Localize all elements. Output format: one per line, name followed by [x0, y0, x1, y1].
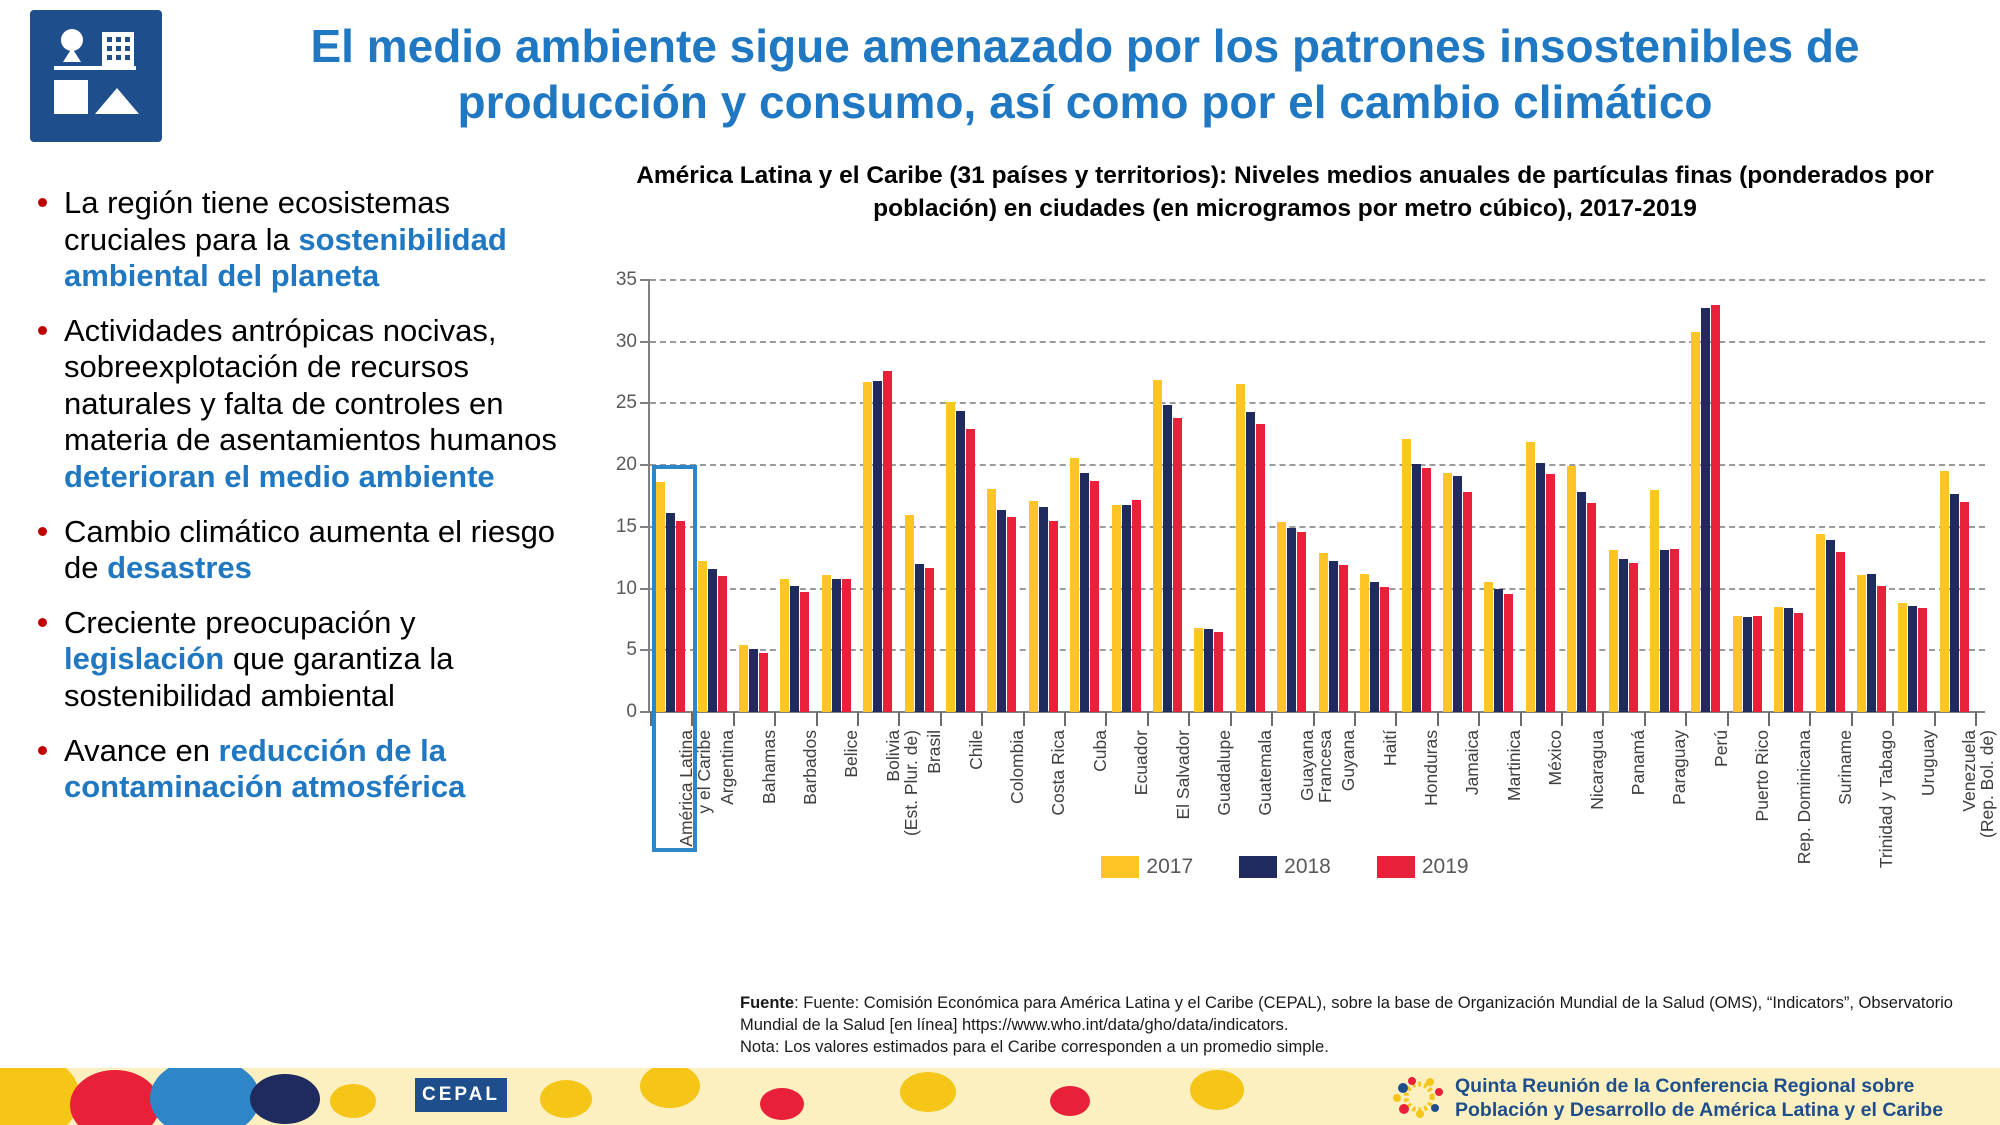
bar-2019 — [966, 429, 975, 712]
bar-2019 — [1587, 503, 1596, 712]
bar-2019 — [1256, 424, 1265, 712]
bar-2019 — [883, 371, 892, 712]
y-tick-mark — [640, 464, 650, 466]
bar-2017 — [1070, 458, 1079, 712]
bar-2019 — [1297, 532, 1306, 712]
bar-2017 — [863, 382, 872, 712]
bullet-text-highlight: deterioran el medio ambiente — [64, 459, 495, 494]
x-tick-mark — [691, 712, 693, 726]
bar-group — [1768, 280, 1809, 712]
x-tick-mark — [1975, 712, 1977, 726]
x-tick-mark — [1147, 712, 1149, 726]
bar-2017 — [1360, 574, 1369, 712]
y-tick-label: 30 — [585, 331, 637, 353]
footer-conference-name: Quinta Reunión de la Conferencia Regiona… — [1455, 1074, 1943, 1123]
source-line-2: Nota: Los valores estimados para el Cari… — [740, 1037, 1990, 1059]
bar-2018 — [1867, 574, 1876, 712]
bar-group — [1934, 280, 1975, 712]
decor-blob — [70, 1070, 160, 1125]
bar-2017 — [822, 575, 831, 712]
bar-2018 — [1577, 492, 1586, 712]
legend-item-2018[interactable]: 2018 — [1239, 855, 1331, 879]
y-tick-label: 5 — [585, 639, 637, 661]
bar-2019 — [1711, 305, 1720, 712]
bar-2019 — [925, 568, 934, 712]
bar-group — [650, 280, 691, 712]
y-tick-label: 15 — [585, 516, 637, 538]
bar-group — [1727, 280, 1768, 712]
bar-group — [1147, 280, 1188, 712]
bar-2019 — [1007, 517, 1016, 712]
x-tick-mark — [1230, 712, 1232, 726]
decor-blob — [250, 1074, 320, 1124]
bar-group — [816, 280, 857, 712]
bar-2018 — [1163, 405, 1172, 712]
x-tick-mark — [1271, 712, 1273, 726]
decor-blob — [1050, 1086, 1090, 1116]
x-tick-mark — [1354, 712, 1356, 726]
x-tick-mark — [1851, 712, 1853, 726]
x-tick-mark — [1520, 712, 1522, 726]
bar-2017 — [1940, 471, 1949, 712]
bar-2017 — [1277, 522, 1286, 712]
chart-panel: América Latina y el Caribe (31 países y … — [585, 155, 1985, 985]
x-tick-mark — [774, 712, 776, 726]
bar-group — [1395, 280, 1436, 712]
footer-line-2: Población y Desarrollo de América Latina… — [1455, 1098, 1943, 1122]
bar-group — [1271, 280, 1312, 712]
legend-swatch-2017 — [1101, 856, 1139, 878]
chart-legend: 201720182019 — [585, 855, 1985, 879]
y-tick-mark — [640, 279, 650, 281]
bar-group — [691, 280, 732, 712]
x-tick-mark — [1644, 712, 1646, 726]
bar-2019 — [1670, 549, 1679, 712]
cepal-logo: CEPAL — [415, 1078, 507, 1112]
bar-2018 — [666, 513, 675, 712]
bullet-item: La región tiene ecosistemas cruciales pa… — [24, 185, 569, 295]
bar-2017 — [1567, 466, 1576, 712]
x-tick-mark — [1023, 712, 1025, 726]
bar-2019 — [1753, 616, 1762, 712]
bar-2017 — [739, 645, 748, 712]
bullet-item: Avance en reducción de la contaminación … — [24, 733, 569, 806]
bar-2017 — [698, 561, 707, 712]
bar-2017 — [946, 402, 955, 712]
bar-2017 — [1609, 550, 1618, 712]
bar-2018 — [873, 381, 882, 712]
x-axis-tick-marks — [650, 712, 1975, 728]
x-tick-mark — [733, 712, 735, 726]
bar-2018 — [1080, 473, 1089, 712]
y-tick-label: 35 — [585, 269, 637, 291]
decor-blob — [0, 1068, 80, 1125]
bar-2019 — [718, 576, 727, 712]
bar-2017 — [656, 482, 665, 712]
bar-2019 — [1918, 608, 1927, 712]
bar-group — [981, 280, 1022, 712]
bar-group — [1892, 280, 1933, 712]
bar-group — [898, 280, 939, 712]
x-tick-mark — [1105, 712, 1107, 726]
bar-2019 — [1629, 563, 1638, 712]
bar-2017 — [987, 489, 996, 712]
bar-2017 — [1650, 490, 1659, 712]
x-tick-mark — [1602, 712, 1604, 726]
bar-2019 — [1960, 502, 1969, 712]
bar-group — [857, 280, 898, 712]
bar-group — [1520, 280, 1561, 712]
slide-header: El medio ambiente sigue amenazado por lo… — [0, 0, 2000, 155]
bar-group — [733, 280, 774, 712]
bullet-text-highlight: desastres — [107, 550, 252, 585]
legend-label: 2018 — [1284, 855, 1331, 879]
bar-2018 — [1412, 464, 1421, 712]
decor-blob — [640, 1068, 700, 1108]
bar-2019 — [1090, 481, 1099, 712]
bar-2017 — [1526, 442, 1535, 712]
x-tick-mark — [1188, 712, 1190, 726]
x-tick-mark — [1768, 712, 1770, 726]
bar-group — [1230, 280, 1271, 712]
bar-2019 — [1504, 594, 1513, 712]
bar-2018 — [790, 586, 799, 712]
footer-line-1: Quinta Reunión de la Conferencia Regiona… — [1455, 1074, 1943, 1098]
legend-label: 2017 — [1146, 855, 1193, 879]
bar-2018 — [1660, 550, 1669, 712]
bar-2018 — [915, 564, 924, 712]
bullet-item: Actividades antrópicas nocivas, sobreexp… — [24, 313, 569, 496]
bar-group — [1478, 280, 1519, 712]
page-title: El medio ambiente sigue amenazado por lo… — [185, 18, 1985, 130]
x-tick-mark — [1727, 712, 1729, 726]
bar-2017 — [780, 579, 789, 712]
bar-2019 — [800, 592, 809, 712]
bar-2019 — [1422, 468, 1431, 712]
x-tick-mark — [1892, 712, 1894, 726]
bar-group — [1188, 280, 1229, 712]
decor-blob — [540, 1080, 592, 1118]
bar-2017 — [1816, 534, 1825, 712]
x-tick-mark — [1934, 712, 1936, 726]
bar-2017 — [1402, 439, 1411, 712]
bar-2018 — [1494, 589, 1503, 712]
legend-swatch-2018 — [1239, 856, 1277, 878]
bar-2018 — [1204, 629, 1213, 712]
decor-blob — [330, 1084, 376, 1118]
x-tick-mark — [1437, 712, 1439, 726]
legend-item-2019[interactable]: 2019 — [1377, 855, 1469, 879]
bar-2018 — [956, 411, 965, 712]
bar-2018 — [997, 510, 1006, 712]
y-tick-label: 25 — [585, 392, 637, 414]
bar-group — [1685, 280, 1726, 712]
decor-blob — [150, 1068, 260, 1125]
bar-2018 — [749, 649, 758, 712]
bar-group — [1644, 280, 1685, 712]
x-tick-mark — [981, 712, 983, 726]
x-tick-mark — [1809, 712, 1811, 726]
conference-emblem-icon — [1390, 1076, 1448, 1118]
bar-2019 — [1173, 418, 1182, 712]
bar-2019 — [1877, 586, 1886, 712]
bar-2018 — [1453, 476, 1462, 712]
bar-2018 — [1826, 540, 1835, 712]
bar-2017 — [1733, 616, 1742, 712]
bar-group — [1023, 280, 1064, 712]
bar-2018 — [708, 569, 717, 712]
y-tick-label: 20 — [585, 454, 637, 476]
bar-2018 — [1370, 582, 1379, 712]
x-tick-mark — [857, 712, 859, 726]
legend-label: 2019 — [1422, 855, 1469, 879]
bar-2019 — [1214, 632, 1223, 712]
bar-2017 — [1898, 603, 1907, 712]
bar-2019 — [1049, 521, 1058, 712]
bullet-text-highlight: legislación — [64, 641, 224, 676]
bar-2017 — [1774, 607, 1783, 712]
legend-swatch-2019 — [1377, 856, 1415, 878]
bar-2017 — [1153, 380, 1162, 712]
legend-item-2017[interactable]: 2017 — [1101, 855, 1193, 879]
x-tick-mark — [650, 712, 652, 726]
bar-2018 — [1122, 505, 1131, 712]
y-tick-mark — [640, 526, 650, 528]
bar-2019 — [676, 521, 685, 712]
x-tick-mark — [1313, 712, 1315, 726]
bar-2017 — [905, 515, 914, 712]
y-tick-label: 0 — [585, 701, 637, 723]
y-tick-mark — [640, 341, 650, 343]
source-line-1: : Fuente: Comisión Económica para Améric… — [740, 994, 1953, 1034]
bar-2018 — [1701, 308, 1710, 712]
bar-2017 — [1194, 628, 1203, 712]
y-tick-mark — [640, 402, 650, 404]
bar-2018 — [1329, 561, 1338, 712]
bar-2017 — [1236, 384, 1245, 712]
bar-group — [1064, 280, 1105, 712]
bar-2019 — [759, 653, 768, 712]
chart-plot: 05101520253035 América Latina y el Carib… — [585, 280, 1985, 840]
bar-2018 — [1287, 528, 1296, 712]
bar-2018 — [1039, 507, 1048, 712]
bar-2019 — [1339, 565, 1348, 712]
bar-2019 — [1546, 474, 1555, 712]
bar-2017 — [1319, 553, 1328, 712]
bar-2019 — [1463, 492, 1472, 712]
x-tick-mark — [940, 712, 942, 726]
bullet-text-plain: Avance en — [64, 733, 219, 768]
bar-group — [1809, 280, 1850, 712]
sustainable-cities-icon — [30, 10, 162, 142]
bar-2018 — [1784, 608, 1793, 712]
bar-2017 — [1112, 505, 1121, 712]
y-tick-mark — [640, 588, 650, 590]
bar-2018 — [1950, 494, 1959, 712]
chart-title: América Latina y el Caribe (31 países y … — [595, 160, 1975, 226]
bar-2019 — [842, 579, 851, 712]
bar-2019 — [1794, 613, 1803, 712]
x-tick-mark — [1395, 712, 1397, 726]
y-tick-mark — [640, 711, 650, 713]
y-tick-label: 10 — [585, 578, 637, 600]
bar-2019 — [1132, 500, 1141, 712]
bar-2018 — [832, 579, 841, 712]
bar-2018 — [1536, 463, 1545, 712]
bar-group — [1313, 280, 1354, 712]
bullet-item: Cambio climático aumenta el riesgo de de… — [24, 514, 569, 587]
bullet-text-plain: Actividades antrópicas nocivas, sobreexp… — [64, 313, 557, 458]
bar-2018 — [1743, 617, 1752, 712]
x-tick-mark — [1478, 712, 1480, 726]
bar-group — [940, 280, 981, 712]
bar-group — [1602, 280, 1643, 712]
bar-2017 — [1857, 575, 1866, 712]
bar-group — [1561, 280, 1602, 712]
bullet-item: Creciente preocupación y legislación que… — [24, 605, 569, 715]
decor-blob — [760, 1088, 804, 1120]
bars-container — [650, 280, 1975, 712]
bar-2018 — [1908, 606, 1917, 712]
bar-group — [1105, 280, 1146, 712]
bar-2017 — [1484, 582, 1493, 712]
bullet-list: La región tiene ecosistemas cruciales pa… — [24, 185, 569, 824]
bar-group — [774, 280, 815, 712]
bar-2017 — [1443, 473, 1452, 712]
source-label: Fuente — [740, 994, 794, 1012]
y-tick-mark — [640, 649, 650, 651]
bullet-text-plain: Creciente preocupación y — [64, 605, 416, 640]
bar-2018 — [1619, 559, 1628, 712]
bar-group — [1851, 280, 1892, 712]
x-tick-mark — [1685, 712, 1687, 726]
x-tick-mark — [898, 712, 900, 726]
decor-blob — [1190, 1070, 1244, 1110]
bar-group — [1354, 280, 1395, 712]
x-tick-mark — [1064, 712, 1066, 726]
bar-2018 — [1246, 412, 1255, 712]
decor-blob — [900, 1072, 956, 1112]
x-tick-mark — [1561, 712, 1563, 726]
bar-group — [1437, 280, 1478, 712]
slide-footer: CEPAL Quinta Reunión de la Conferencia R… — [0, 1068, 2000, 1125]
bar-2019 — [1380, 587, 1389, 712]
bar-2019 — [1836, 552, 1845, 712]
x-tick-mark — [816, 712, 818, 726]
bar-2017 — [1691, 332, 1700, 712]
source-note: Fuente: Fuente: Comisión Económica para … — [740, 993, 1990, 1058]
bar-2017 — [1029, 501, 1038, 712]
